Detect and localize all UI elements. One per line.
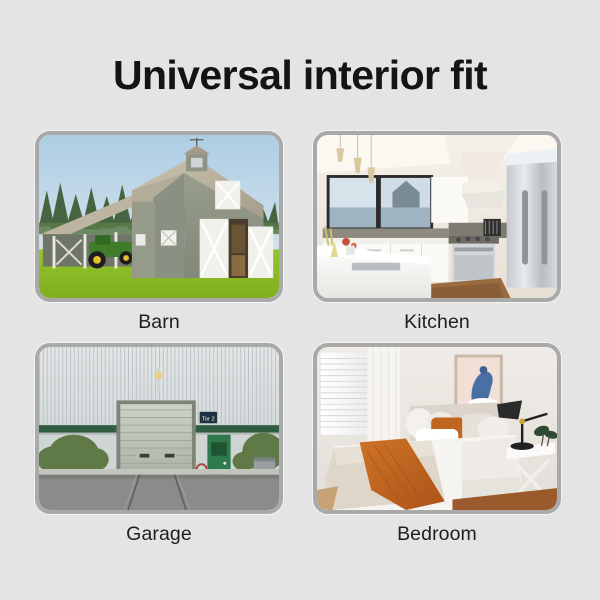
image-frame-garage: Tor 2 — [35, 343, 283, 514]
product-infographic: Universal interior fit — [0, 0, 600, 600]
tile-kitchen[interactable]: Kitchen — [313, 131, 561, 334]
photo-bedroom — [317, 347, 557, 510]
photo-kitchen — [317, 135, 557, 298]
image-frame-kitchen — [313, 131, 561, 302]
tile-garage[interactable]: Tor 2 — [35, 343, 283, 546]
tile-caption-barn: Barn — [35, 302, 283, 334]
tile-barn[interactable]: Barn — [35, 131, 283, 334]
garage-sign-text: Tor 2 — [202, 416, 215, 422]
tile-caption-bedroom: Bedroom — [313, 514, 561, 546]
tile-caption-kitchen: Kitchen — [313, 302, 561, 334]
image-frame-bedroom — [313, 343, 561, 514]
photo-garage: Tor 2 — [39, 347, 279, 510]
photo-barn — [39, 135, 279, 298]
tile-caption-garage: Garage — [35, 514, 283, 546]
tile-grid: Barn — [35, 131, 565, 546]
tile-bedroom[interactable]: Bedroom — [313, 343, 561, 546]
page-title: Universal interior fit — [0, 51, 600, 99]
image-frame-barn — [35, 131, 283, 302]
